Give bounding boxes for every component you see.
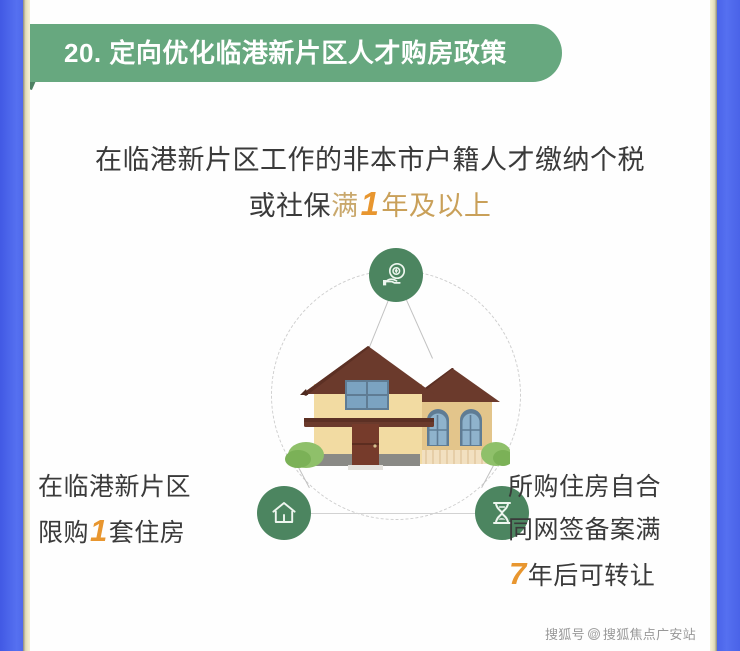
headline-block: 在临港新片区工作的非本市户籍人才缴纳个税 或社保满1年及以上 [30, 138, 710, 228]
section-banner: 20. 定向优化临港新片区人才购房政策 [30, 24, 562, 84]
infographic-page: 20. 定向优化临港新片区人才购房政策 在临港新片区工作的非本市户籍人才缴纳个税… [0, 0, 740, 651]
caption-right-number: 7 [508, 556, 528, 591]
watermark-at-icon: @ [588, 628, 600, 640]
caption-transfer-period: 所购住房自合 同网签备案满 7年后可转让 [508, 466, 704, 598]
section-title: 20. 定向优化临港新片区人才购房政策 [30, 40, 507, 66]
watermark-suffix: 搜狐焦点广安站 [603, 624, 696, 643]
caption-right-line-1: 所购住房自合 [508, 466, 704, 509]
caption-left-line-1: 在临港新片区 [38, 466, 238, 509]
caption-right-line-2: 同网签备案满 [508, 509, 704, 552]
caption-left-line-2: 限购1套住房 [38, 509, 238, 555]
node-tax-payment[interactable] [369, 248, 423, 302]
caption-left-suffix: 套住房 [109, 519, 186, 547]
watermark: 搜狐号 @ 搜狐焦点广安站 [545, 624, 696, 643]
headline-line-1: 在临港新片区工作的非本市户籍人才缴纳个税 [30, 138, 710, 182]
left-page-seam [23, 0, 30, 651]
headline-line2-gold-man: 满 [331, 191, 359, 221]
caption-right-suffix: 年后可转让 [528, 562, 656, 590]
bottom-connector-line [308, 513, 486, 514]
headline-year-number: 1 [359, 185, 382, 222]
content-sheet: 20. 定向优化临港新片区人才购房政策 在临港新片区工作的非本市户籍人才缴纳个税… [30, 0, 710, 651]
banner-body: 20. 定向优化临港新片区人才购房政策 [30, 24, 562, 82]
headline-line2-suffix: 年及以上 [381, 191, 491, 221]
caption-right-line-3: 7年后可转让 [508, 552, 704, 598]
home-icon [270, 499, 298, 527]
watermark-prefix: 搜狐号 [545, 624, 585, 643]
house-illustration [282, 338, 510, 478]
caption-purchase-limit: 在临港新片区 限购1套住房 [38, 466, 238, 555]
hand-holding-coin-icon [381, 260, 411, 290]
caption-left-number: 1 [89, 513, 109, 548]
headline-line2-prefix: 或社保 [249, 191, 332, 221]
caption-left-prefix: 限购 [38, 519, 89, 547]
headline-line-2: 或社保满1年及以上 [30, 182, 710, 228]
right-page-seam [710, 0, 717, 651]
policy-diagram [246, 248, 546, 558]
node-purchase-limit[interactable] [257, 486, 311, 540]
